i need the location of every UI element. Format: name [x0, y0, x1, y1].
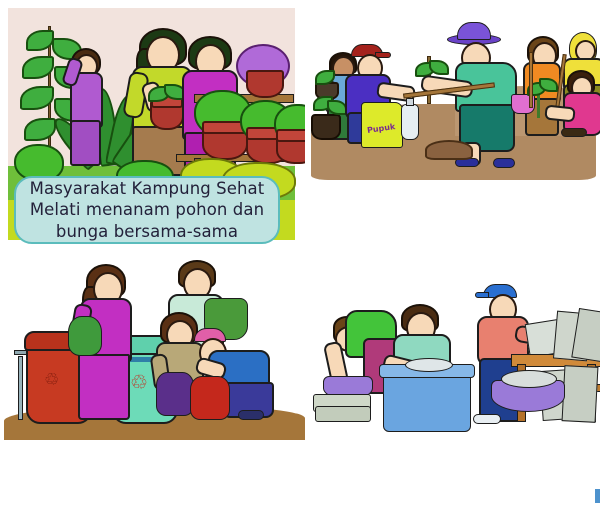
blue-pulp-vat	[383, 370, 471, 432]
plant-stake	[529, 52, 533, 108]
purple-trash-bag	[156, 372, 194, 416]
girl-shoe	[561, 128, 587, 137]
bin-stand-post	[18, 356, 23, 420]
recycle-icon: ♲	[130, 372, 148, 392]
purple-hat-crown	[457, 22, 491, 40]
panel-1: Masyarakat Kampung Sehat Melati menanam …	[0, 0, 305, 254]
panel-4-scene	[305, 254, 600, 508]
panel-4: Warga mendaur ulang sampah menjadi bahan…	[305, 254, 600, 508]
person-shoe	[473, 414, 501, 424]
pulp-heap	[501, 370, 557, 388]
green-trash-bag	[68, 316, 102, 356]
panel-3-scene: ♲ ♲	[0, 254, 305, 508]
tree-leaf	[24, 118, 56, 141]
water-bottle	[401, 104, 419, 140]
panel-2: Pupuk	[305, 0, 600, 254]
recycle-icon: ♲	[44, 372, 59, 389]
paper-pulp-sheet	[405, 358, 453, 372]
soil-mound	[425, 140, 473, 160]
held-flower-pot	[150, 100, 184, 130]
panel-1-caption-text: Masyarakat Kampung Sehat Melati menanam …	[26, 178, 268, 241]
panel-grid: Masyarakat Kampung Sehat Melati menanam …	[0, 0, 600, 508]
edge-artifact	[595, 489, 600, 503]
shrub-pot	[202, 126, 248, 160]
woman-skirt	[78, 354, 130, 420]
child-skirt	[70, 120, 101, 166]
shrub-pot	[276, 134, 305, 164]
panel-2-scene: Pupuk	[305, 0, 600, 254]
bottle-cap	[406, 98, 414, 106]
red-trash-bag	[190, 376, 230, 420]
flower-pot	[246, 70, 284, 98]
boy-sandal	[238, 410, 264, 420]
woman-shoe	[493, 158, 515, 168]
panel-1-caption: Masyarakat Kampung Sehat Melati menanam …	[14, 176, 280, 244]
paper-screen	[562, 365, 599, 423]
polybag-ground	[311, 114, 341, 140]
girl-arm	[544, 104, 575, 122]
paper-bundle	[315, 406, 371, 422]
panel-3: ♲ ♲	[0, 254, 305, 508]
cap-brim	[475, 292, 489, 298]
